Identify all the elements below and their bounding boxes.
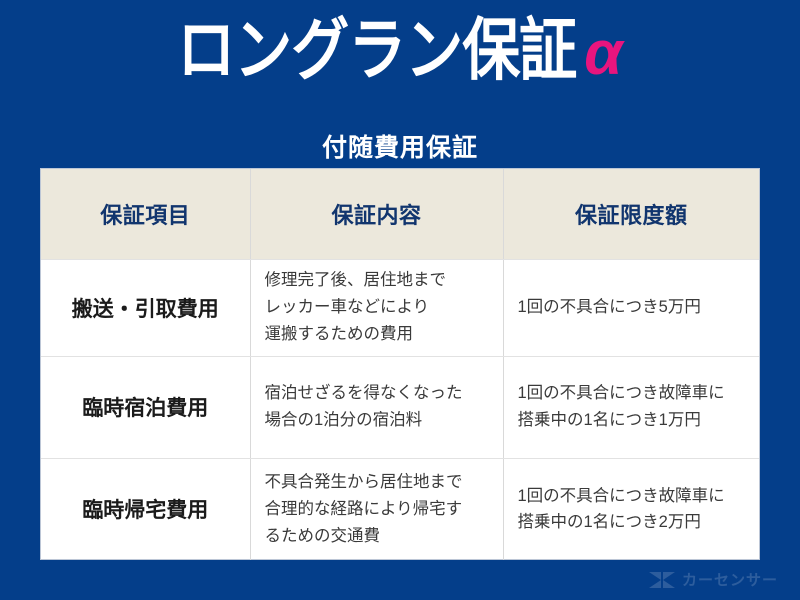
guarantee-table-container: 保証項目 保証内容 保証限度額 搬送・引取費用 修理完了後、居住地まで レッカー… — [40, 168, 760, 560]
limit-line: 搭乗中の1名につき2万円 — [518, 509, 746, 536]
row-item-name: 臨時宿泊費用 — [41, 356, 250, 458]
table-header-row: 保証項目 保証内容 保証限度額 — [41, 169, 759, 259]
row-limit: 1回の不具合につき5万円 — [503, 259, 759, 356]
row-item-name: 搬送・引取費用 — [41, 259, 250, 356]
bowtie-logo-icon — [649, 572, 675, 588]
row-limit: 1回の不具合につき故障車に 搭乗中の1名につき1万円 — [503, 356, 759, 458]
limit-line: 1回の不具合につき故障車に — [518, 380, 746, 407]
detail-line: 場合の1泊分の宿泊料 — [265, 407, 489, 434]
row-item-name: 臨時帰宅費用 — [41, 458, 250, 560]
row-detail: 不具合発生から居住地まで 合理的な経路により帰宅す るための交通費 — [250, 458, 503, 560]
table-row: 臨時帰宅費用 不具合発生から居住地まで 合理的な経路により帰宅す るための交通費… — [41, 458, 759, 560]
page-subtitle: 付随費用保証 — [0, 128, 800, 164]
page-title: ロングラン保証α — [0, 20, 800, 82]
guarantee-table: 保証項目 保証内容 保証限度額 搬送・引取費用 修理完了後、居住地まで レッカー… — [41, 169, 759, 560]
page-title-alpha-symbol: α — [584, 23, 622, 85]
page-title-main: ロングラン保証 — [177, 17, 576, 85]
detail-line: 合理的な経路により帰宅す — [265, 496, 489, 523]
column-header-item: 保証項目 — [41, 169, 250, 259]
detail-line: 不具合発生から居住地まで — [265, 469, 489, 496]
row-limit: 1回の不具合につき故障車に 搭乗中の1名につき2万円 — [503, 458, 759, 560]
limit-line: 搭乗中の1名につき1万円 — [518, 407, 746, 434]
detail-line: レッカー車などにより — [265, 294, 489, 321]
row-detail: 修理完了後、居住地まで レッカー車などにより 運搬するための費用 — [250, 259, 503, 356]
watermark-label: カーセンサー — [682, 569, 778, 590]
detail-line: 宿泊せざるを得なくなった — [265, 380, 489, 407]
limit-line: 1回の不具合につき故障車に — [518, 483, 746, 510]
watermark: カーセンサー — [649, 569, 778, 590]
table-body: 搬送・引取費用 修理完了後、居住地まで レッカー車などにより 運搬するための費用… — [41, 259, 759, 560]
limit-line: 1回の不具合につき5万円 — [518, 294, 746, 321]
table-row: 臨時宿泊費用 宿泊せざるを得なくなった 場合の1泊分の宿泊料 1回の不具合につき… — [41, 356, 759, 458]
column-header-limit: 保証限度額 — [503, 169, 759, 259]
detail-line: るための交通費 — [265, 523, 489, 550]
column-header-content: 保証内容 — [250, 169, 503, 259]
detail-line: 修理完了後、居住地まで — [265, 267, 489, 294]
table-header: 保証項目 保証内容 保証限度額 — [41, 169, 759, 259]
table-row: 搬送・引取費用 修理完了後、居住地まで レッカー車などにより 運搬するための費用… — [41, 259, 759, 356]
detail-line: 運搬するための費用 — [265, 321, 489, 348]
row-detail: 宿泊せざるを得なくなった 場合の1泊分の宿泊料 — [250, 356, 503, 458]
